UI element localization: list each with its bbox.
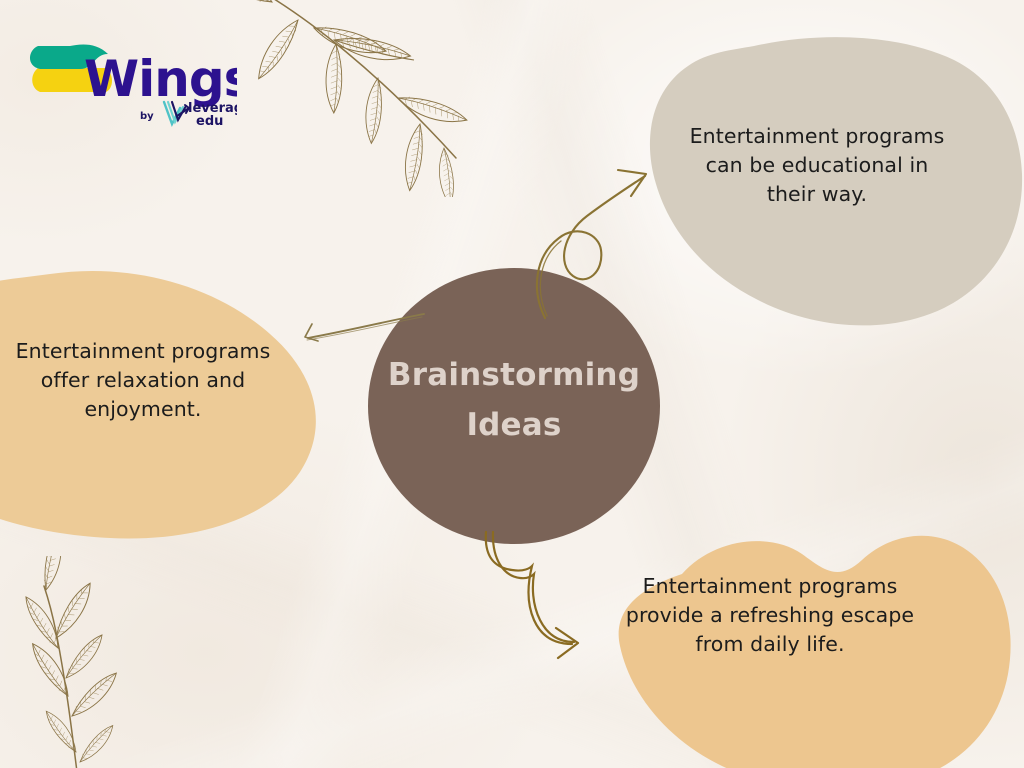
olive-branch-bottom-left-decoration: [6, 556, 216, 768]
connector-to-left: [296, 308, 432, 350]
center-node-title: Brainstorming Ideas: [372, 350, 656, 450]
node-left-line-2: offer relaxation and: [0, 366, 308, 395]
node-bottom-right-line-3: from daily life.: [598, 630, 942, 659]
node-top-right-text: Entertainment programs can be educationa…: [652, 122, 982, 209]
olive-branch-top-decoration: [238, 0, 538, 197]
node-bottom-right-line-1: Entertainment programs: [598, 572, 942, 601]
node-left-line-3: enjoyment.: [0, 395, 308, 424]
node-left-text: Entertainment programs offer relaxation …: [0, 337, 308, 424]
mindmap-canvas: Wings by leverage edu Entertainment prog…: [0, 0, 1024, 768]
wings-leverage-edu-logo[interactable]: Wings by leverage edu: [22, 24, 237, 134]
connector-to-bottom-right: [474, 524, 634, 674]
svg-text:by: by: [140, 111, 154, 122]
center-title-line-2: Ideas: [372, 400, 656, 450]
node-bottom-right-line-2: provide a refreshing escape: [598, 601, 942, 630]
node-top-right-line-3: their way.: [652, 180, 982, 209]
svg-text:Wings: Wings: [84, 50, 237, 108]
node-bottom-right-text: Entertainment programs provide a refresh…: [598, 572, 942, 659]
node-left-line-1: Entertainment programs: [0, 337, 308, 366]
connector-to-top-right: [515, 140, 685, 325]
svg-text:edu: edu: [196, 114, 223, 129]
node-top-right-line-2: can be educational in: [652, 151, 982, 180]
center-title-line-1: Brainstorming: [372, 350, 656, 400]
node-top-right-line-1: Entertainment programs: [652, 122, 982, 151]
